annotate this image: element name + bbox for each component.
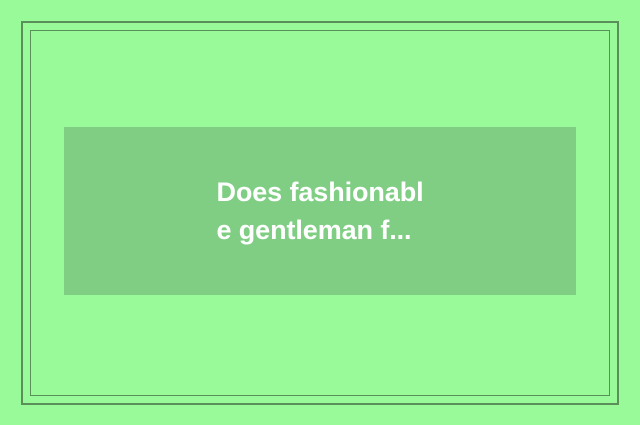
panel-text-line-1: Does fashionabl — [216, 173, 423, 211]
placeholder-canvas: Does fashionabl e gentleman f... — [0, 0, 640, 425]
panel-text-block: Does fashionabl e gentleman f... — [216, 173, 423, 249]
panel-text-line-2: e gentleman f... — [216, 211, 423, 249]
content-panel: Does fashionabl e gentleman f... — [64, 127, 576, 295]
